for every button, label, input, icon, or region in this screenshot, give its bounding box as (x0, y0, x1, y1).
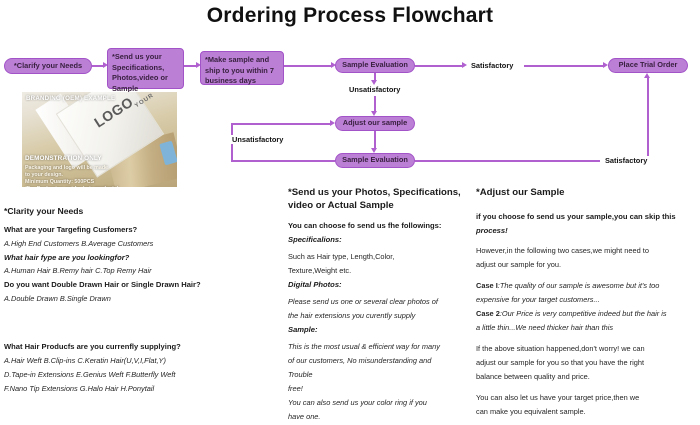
flow-node-label: *Make sample and ship to you within 7 bu… (205, 55, 279, 87)
section-heading-send: *Send us your Photos, Specifications, vi… (288, 186, 470, 212)
send-specifications-text-2: Texture,Weight etc. (288, 265, 470, 276)
edge-label-satisfactory-bottom: Satisfactory (603, 156, 649, 165)
flowchart-page: Ordering Process Flowchart *Clarify your… (0, 0, 700, 417)
adjust-skip-line-2: process! (476, 225, 698, 236)
flow-node-send-specifications[interactable]: *Send us your Specifications, Photos,vid… (107, 48, 184, 89)
section-adjust-our-sample: *Adjust our Sample if you choose fo send… (476, 186, 698, 420)
connector-loop-to-adjust (231, 123, 331, 125)
section-heading-clarify: *Clarity your Needs (4, 206, 276, 218)
send-digital-photos-text-1: Please send us one or several clear phot… (288, 296, 470, 307)
arrowhead-up-icon (644, 73, 650, 78)
adjust-resolve-3: balance between quality and price. (476, 371, 698, 382)
connector-satisfactory-up (647, 78, 649, 156)
clarify-answer-4-line-1: A.Hair Weft B.Clip-ins C.Keratin Hair(U,… (4, 355, 276, 366)
photo-fine-print-2: to your design. (25, 172, 63, 178)
flow-node-label: Sample Evaluation (342, 60, 408, 71)
spacer (4, 307, 276, 341)
clarify-answer-4-line-3: F.Nano Tip Extensions G.Halo Hair H.Pony… (4, 383, 276, 394)
case-1-label: Case I (476, 281, 498, 290)
case-1-text: :The quality of our sample is awesome bu… (498, 281, 660, 290)
send-digital-photos-label: Digital Photos: (288, 279, 470, 290)
clarify-question-2: What hair fype are you lookingfor? (4, 252, 276, 263)
spacer (476, 238, 698, 245)
case-2-text: :Our Price is very competitive indeed bu… (500, 309, 667, 318)
page-title: Ordering Process Flowchart (0, 4, 700, 28)
flow-node-label: *Clarify your Needs (14, 61, 82, 72)
adjust-resolve-2: adjust our sample for you so that you ha… (476, 357, 698, 368)
send-intro: You can choose fo send us fhe followings… (288, 220, 470, 231)
photo-fine-print-4: (For Packaging not for hair products) (25, 186, 119, 187)
adjust-case-2: Case 2:Our Price is very competitive ind… (476, 308, 698, 319)
section-send-us-photos: *Send us your Photos, Specifications, vi… (288, 186, 470, 425)
connector-eval2-to-satisfactory (415, 160, 600, 162)
adjust-target-2: can make you equivalent sample. (476, 406, 698, 417)
branding-example-photo: LOGO YOUR BRANDING (OEM) EXAMPLE DEMONST… (22, 92, 177, 187)
connector-adjust-to-eval2 (374, 131, 376, 149)
flow-node-make-sample[interactable]: *Make sample and ship to you within 7 bu… (200, 51, 284, 85)
flow-node-sample-evaluation-2[interactable]: Sample Evaluation (335, 153, 415, 168)
section-clarify-your-needs: *Clarity your Needs What are your Targef… (4, 206, 276, 397)
flow-node-adjust-our-sample[interactable]: Adjust our sample (335, 116, 415, 131)
adjust-resolve-1: If the above situation happened,don't wo… (476, 343, 698, 354)
arrowhead-right-icon (462, 62, 467, 68)
connector-eval1-down-2 (374, 96, 376, 112)
adjust-case-1-line-2: expensive for your target customers... (476, 294, 698, 305)
send-sample-text-2: of our customers, No misunderstanding an… (288, 355, 470, 366)
spacer (476, 385, 698, 392)
clarify-question-4: What Hair Producfs are you currenfly sup… (4, 341, 276, 352)
send-specifications-text-1: Such as Hair type, Length,Color, (288, 251, 470, 262)
connector-eval2-left (231, 160, 335, 162)
flow-node-label: Adjust our sample (343, 118, 407, 129)
send-sample-text-5: You can also send us your color ring if … (288, 397, 470, 408)
adjust-case-1: Case I:The quality of our sample is awes… (476, 280, 698, 291)
adjust-target-1: You can also let us have your target pri… (476, 392, 698, 403)
clarify-question-1: What are your Targefing Cusfomers? (4, 224, 276, 235)
photo-branding-caption: BRANDING (OEM) EXAMPLE (26, 95, 115, 102)
flow-node-clarify-your-needs[interactable]: *Clarify your Needs (4, 58, 92, 74)
clarify-answer-3: A.Double Drawn B.Single Drawn (4, 293, 276, 304)
spacer (476, 273, 698, 280)
arrowhead-right-icon (330, 120, 335, 126)
case-2-label: Case 2 (476, 309, 500, 318)
clarify-question-3: Do you want Double Drawn Hair or Single … (4, 279, 276, 290)
flow-node-label: Sample Evaluation (342, 155, 408, 166)
clarify-answer-4-line-2: D.Tape-in Extensions E.Genius Weft F.But… (4, 369, 276, 380)
send-sample-label: Sample: (288, 324, 470, 335)
clarify-answer-2: A.Human Hair B.Remy hair C.Top Remy Hair (4, 265, 276, 276)
send-specifications-label: Specificalions: (288, 234, 470, 245)
spacer (476, 336, 698, 343)
photo-demo-caption: DEMONSTRATION ONLY (25, 155, 102, 162)
connector-satisfactory-to-order (524, 65, 604, 67)
send-sample-text-3: Trouble (288, 369, 470, 380)
flow-node-place-trial-order[interactable]: Place Trial Order (608, 58, 688, 73)
section-heading-adjust: *Adjust our Sample (476, 186, 698, 199)
edge-label-unsatisfactory-left: Unsatisfactory (230, 135, 285, 144)
photo-fine-print-3: Minimum Quantity: 500PCS (25, 179, 94, 185)
flow-node-sample-evaluation-1[interactable]: Sample Evaluation (335, 58, 415, 73)
send-sample-text-4: free! (288, 383, 470, 394)
edge-label-unsatisfactory-top: Unsatisfactory (347, 85, 402, 94)
adjust-however-1: However,in the following two cases,we mi… (476, 245, 698, 256)
flow-node-label: Place Trial Order (619, 60, 678, 71)
adjust-however-2: adjust our sample for you. (476, 259, 698, 270)
adjust-case-2-line-2: a little thin...We need thicker hair tha… (476, 322, 698, 333)
clarify-answer-1: A.High End Customers B.Average Customers (4, 238, 276, 249)
connector-make-to-eval1 (284, 65, 332, 67)
photo-fine-print-1: Packaging and logo will be made (25, 165, 108, 171)
edge-label-satisfactory-top: Satisfactory (469, 61, 515, 70)
adjust-skip-line-1: if you choose fo send us your sample,you… (476, 211, 698, 222)
send-sample-text-1: This is the most usual & efficient way f… (288, 341, 470, 352)
flow-node-label: *Send us your Specifications, Photos,vid… (112, 52, 179, 94)
connector-eval1-to-satisfactory (415, 65, 463, 67)
send-digital-photos-text-2: the hair extensions you curently supply (288, 310, 470, 321)
